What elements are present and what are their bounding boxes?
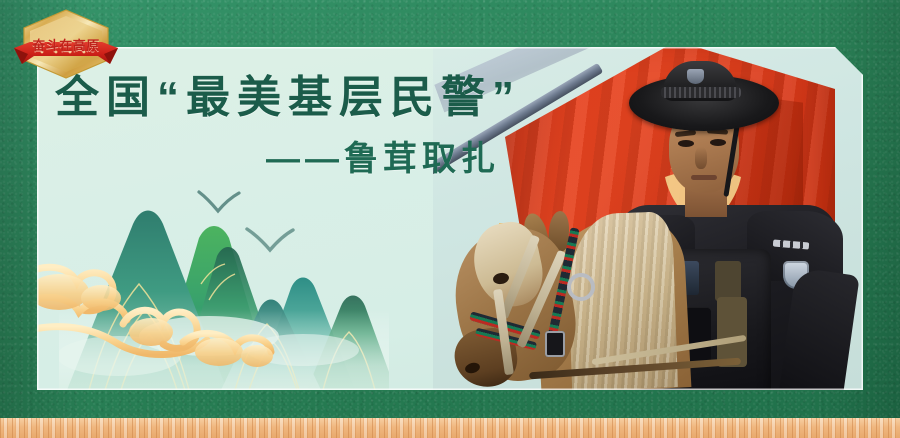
page-title: 全国“最美基层民警” — [55, 76, 521, 120]
flying-bird-icon — [197, 189, 241, 215]
horse-bridle-buckle — [545, 331, 565, 357]
flying-bird-icon — [245, 225, 295, 253]
horse-bridle-ring — [567, 273, 595, 301]
bottom-wood-strip — [0, 418, 900, 438]
award-badge-label: 奋斗在高原 — [12, 35, 120, 54]
officer-hat-badge-icon — [687, 69, 704, 84]
officer-right-eye — [710, 139, 726, 146]
officer-mouth — [691, 175, 717, 180]
page-subtitle: ——鲁茸取扎 — [266, 142, 500, 176]
palomino-horse — [441, 217, 741, 390]
officer-left-eye — [678, 140, 694, 147]
officer-nose — [695, 147, 707, 169]
promo-banner: 全国“最美基层民警” ——鲁茸取扎 — [0, 0, 900, 438]
award-badge: 奋斗在高原 — [12, 8, 120, 84]
officer-hat-band — [661, 87, 741, 98]
